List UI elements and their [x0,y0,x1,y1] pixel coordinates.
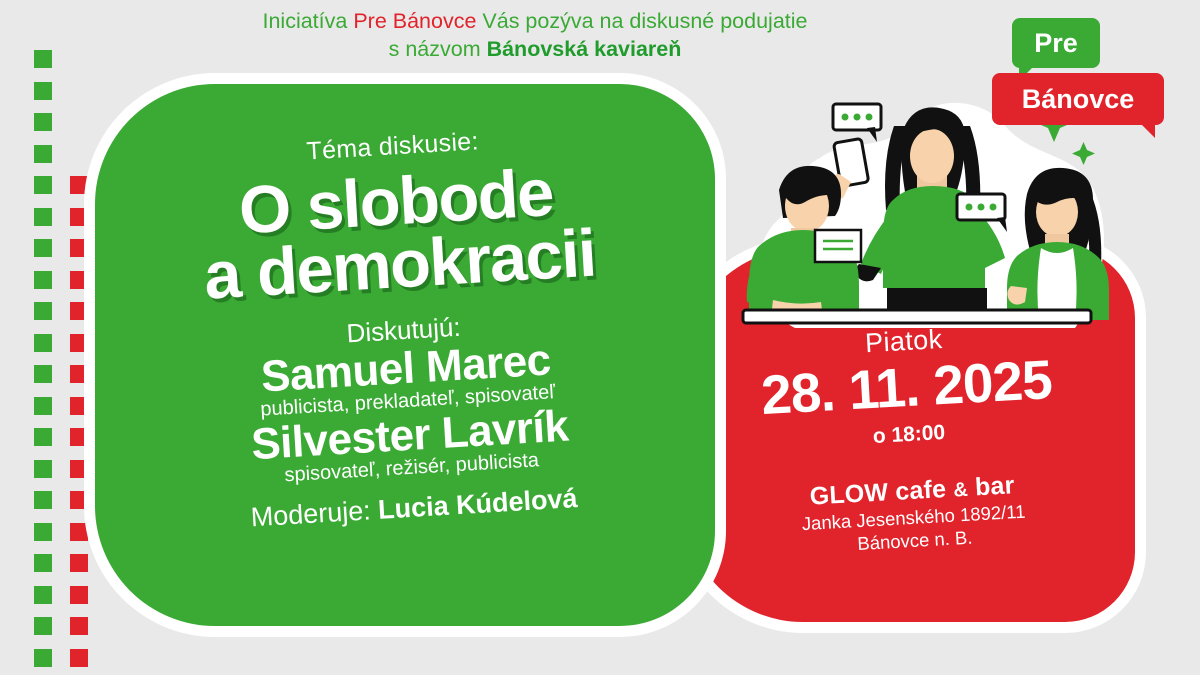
decor-square-green [34,460,52,478]
decor-square-green [34,491,52,509]
logo[interactable]: Pre Bánovce [992,18,1182,138]
decor-square-green [34,113,52,131]
decor-square-red [70,397,88,415]
decor-square-red [70,649,88,667]
decor-square-red [70,460,88,478]
decor-square-green [34,82,52,100]
decor-square-green [34,271,52,289]
headline-event-name: Bánovská kaviareň [487,37,682,61]
decor-square-green [34,176,52,194]
headline-line-2: s názvom Bánovská kaviareň [150,36,920,64]
document-card-icon [815,230,861,262]
headline-line-1: Iniciatíva Pre Bánovce Vás pozýva na dis… [150,8,920,36]
headline-text-1: Iniciatíva [262,9,353,33]
decor-square-red [70,239,88,257]
event-poster: Iniciatíva Pre Bánovce Vás pozýva na dis… [0,0,1200,675]
headline-brand: Pre Bánovce [353,9,476,33]
discussion-title-line-2: a demokracii [88,214,711,316]
decor-square-green [34,239,52,257]
venue-name-part-2: bar [967,471,1015,502]
decor-square-green [34,586,52,604]
decor-square-green [34,50,52,68]
venue-block: GLOW cafe & bar Janka Jesenského 1892/11… [686,464,1141,564]
decor-square-green [34,145,52,163]
topic-panel-content: Téma diskusie: O slobode a demokracii Di… [79,66,730,644]
decor-square-green [34,428,52,446]
logo-bubble-banovce: Bánovce [992,73,1164,125]
decor-square-red [70,523,88,541]
decor-square-red [70,365,88,383]
headline-text-3: s názvom [389,37,487,61]
decor-square-green [34,208,52,226]
headline: Iniciatíva Pre Bánovce Vás pozýva na dis… [150,8,920,63]
speech-bubble-icon [833,104,881,142]
decor-square-red [70,491,88,509]
logo-bubble-pre: Pre [1012,18,1100,68]
decor-square-green [34,554,52,572]
decor-square-red [70,617,88,635]
decor-square-red [70,428,88,446]
discussion-title: O slobode a demokracii [85,151,711,316]
decor-square-green [34,397,52,415]
decorative-square-grid [0,0,100,675]
moderator-name: Lucia Kúdelová [377,483,578,525]
decor-square-green [34,365,52,383]
person-center-face [910,129,954,183]
moderator-label: Moderuje: [250,495,372,532]
table-surface [743,310,1091,323]
decor-square-red [70,271,88,289]
topic-panel: Téma diskusie: O slobode a demokracii Di… [95,84,715,626]
sparkle-icon [1072,142,1095,165]
ampersand-glyph: & [953,479,969,502]
decor-square-green [34,334,52,352]
decor-square-red [70,334,88,352]
decor-square-red [70,554,88,572]
decor-square-red [70,302,88,320]
decor-square-green [34,617,52,635]
decor-square-green [34,302,52,320]
headline-text-2: Vás pozýva na diskusné podujatie [476,9,807,33]
decor-square-green [34,649,52,667]
decor-square-red [70,586,88,604]
decor-square-green [34,523,52,541]
